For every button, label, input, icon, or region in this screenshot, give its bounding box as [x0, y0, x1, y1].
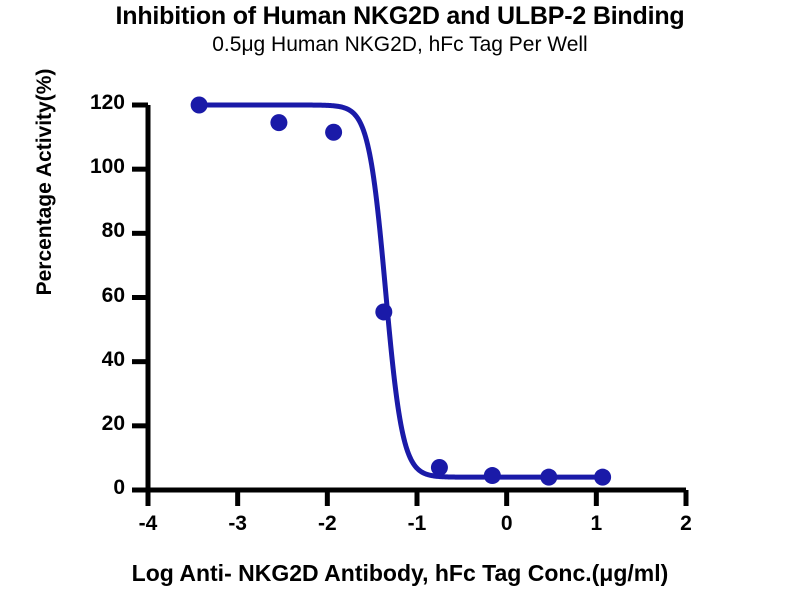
x-tick-label: 1 — [556, 512, 636, 536]
x-tick-label: 2 — [646, 512, 726, 536]
data-point[interactable] — [375, 303, 392, 320]
y-tick-label: 100 — [40, 155, 125, 179]
y-tick-label: 20 — [40, 412, 125, 436]
axes — [132, 105, 686, 506]
data-point[interactable] — [325, 124, 342, 141]
data-point[interactable] — [191, 97, 208, 114]
y-tick-label: 0 — [40, 476, 125, 500]
y-tick-label: 40 — [40, 348, 125, 372]
data-point[interactable] — [594, 469, 611, 486]
fit-curve — [199, 105, 603, 477]
y-tick-label: 60 — [40, 284, 125, 308]
y-tick-label: 80 — [40, 219, 125, 243]
data-point[interactable] — [484, 467, 501, 484]
x-tick-label: -1 — [377, 512, 457, 536]
data-series — [191, 97, 612, 486]
x-tick-label: -3 — [198, 512, 278, 536]
data-point[interactable] — [540, 469, 557, 486]
x-tick-label: 0 — [467, 512, 547, 536]
data-point[interactable] — [270, 114, 287, 131]
x-tick-label: -4 — [108, 512, 188, 536]
data-point[interactable] — [431, 459, 448, 476]
y-tick-label: 120 — [40, 91, 125, 115]
x-tick-label: -2 — [287, 512, 367, 536]
chart-container: Inhibition of Human NKG2D and ULBP-2 Bin… — [0, 0, 800, 600]
